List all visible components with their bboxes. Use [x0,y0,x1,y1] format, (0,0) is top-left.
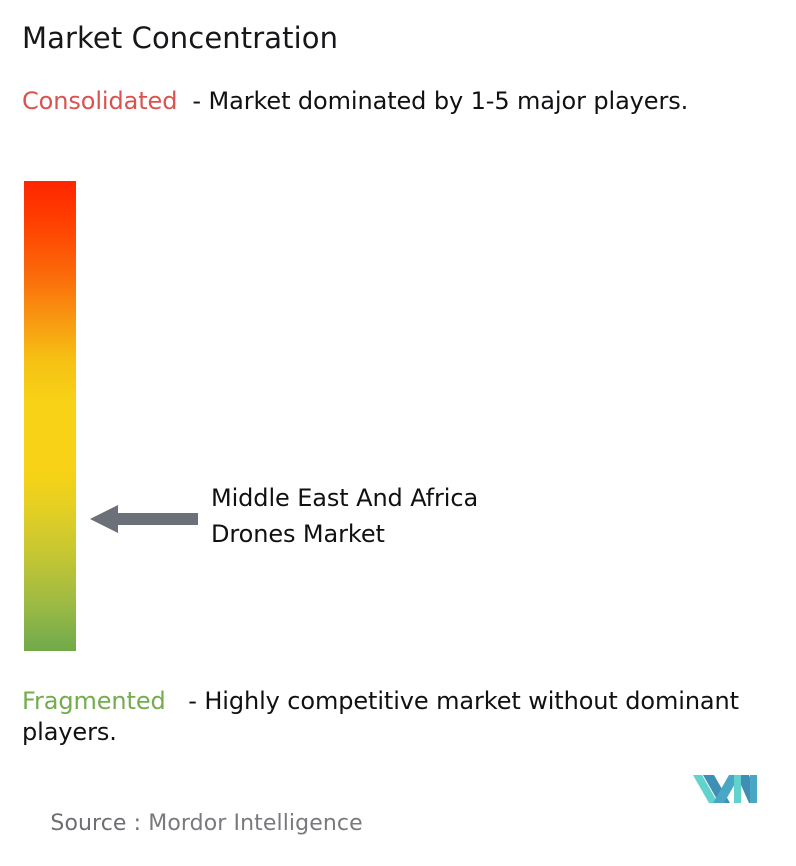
source-attribution: Source : Mordor Intelligence [22,782,363,866]
legend-fragmented: Fragmented - Highly competitive market w… [22,686,774,748]
page-title: Market Concentration [22,20,338,56]
market-position-callout: Middle East And Africa Drones Market [90,480,650,552]
left-arrow-icon [90,503,198,535]
source-label: Source : [50,811,148,836]
legend-separator-consolidated: - [177,87,208,115]
legend-consolidated: Consolidated - Market dominated by 1-5 m… [22,86,774,117]
source-value: Mordor Intelligence [148,811,362,836]
market-position-label-line-1: Middle East And Africa [211,480,631,516]
market-position-label: Middle East And Africa Drones Market [211,480,631,552]
legend-separator-fragmented: - [166,687,205,715]
chart-canvas: Market Concentration Consolidated - Mark… [0,0,796,834]
legend-description-consolidated: Market dominated by 1-5 major players. [208,87,688,115]
market-position-label-line-2: Drones Market [211,516,631,552]
legend-key-fragmented: Fragmented [22,687,166,715]
mordor-intelligence-logo-icon [693,771,757,807]
legend-key-consolidated: Consolidated [22,87,177,115]
concentration-gradient-bar [24,181,76,651]
